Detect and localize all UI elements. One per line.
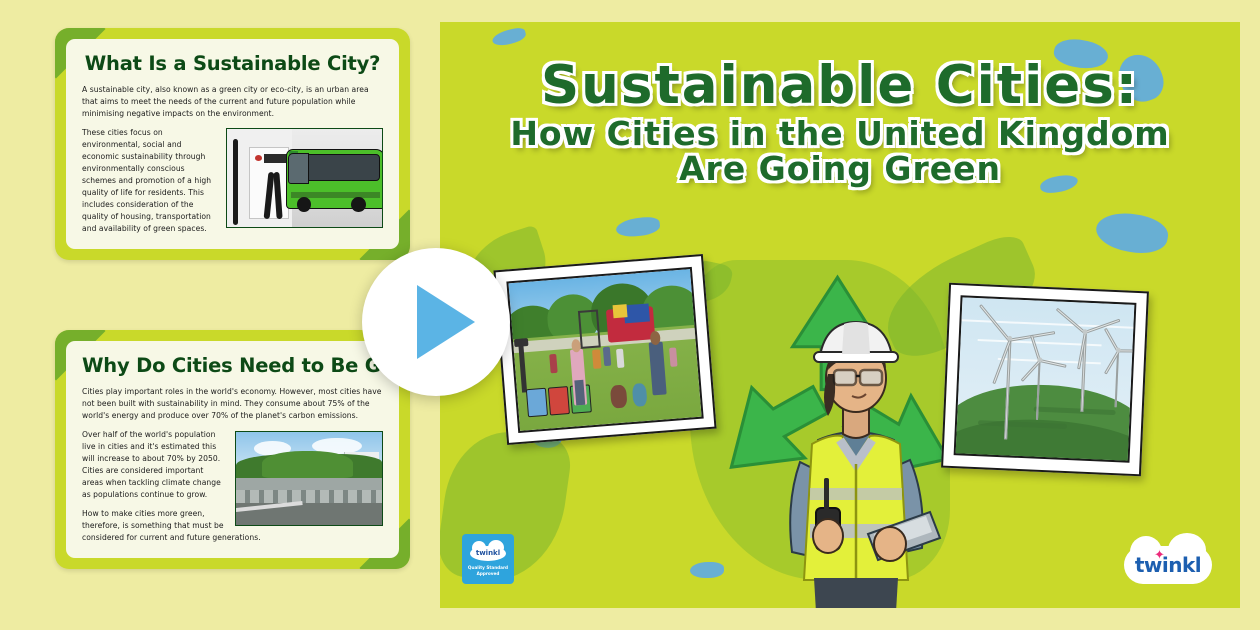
slide-preview-panel: Sustainable Cities: How Cities in the Un… xyxy=(440,22,1240,608)
quality-badge-line-1: Quality Standard xyxy=(468,565,508,571)
green-roof-photo xyxy=(235,431,383,526)
card-body: Cities play important roles in the world… xyxy=(82,386,383,544)
paint-splotch-icon xyxy=(1039,173,1079,194)
twinkl-logo: ✦ twinkl xyxy=(1124,542,1212,588)
twinkl-quality-standard-badge: twinkl Quality Standard Approved xyxy=(462,534,514,584)
card-title: Why Do Cities Need to Be Greener? xyxy=(82,354,383,377)
slide-title-sub-line-1: How Cities in the United Kingdom xyxy=(440,117,1240,151)
card-title: What Is a Sustainable City? xyxy=(82,52,383,75)
play-video-button[interactable] xyxy=(362,248,510,396)
polaroid-park-photo xyxy=(493,254,716,445)
polaroid-wind-turbines-photo xyxy=(941,283,1149,477)
paint-splotch-icon xyxy=(1113,48,1169,107)
twinkl-logo-word: twinkl xyxy=(1135,553,1201,577)
info-card-why-cities-need-greener: Why Do Cities Need to Be Greener? Cities… xyxy=(55,330,410,569)
quality-badge-line-2: Approved xyxy=(468,571,508,577)
quality-badge-word: twinkl xyxy=(476,549,500,557)
card-inner: What Is a Sustainable City? A sustainabl… xyxy=(66,39,399,249)
slide-title-sub-line-2: Are Going Green xyxy=(440,152,1240,186)
star-icon: ✦ xyxy=(1154,548,1165,561)
electric-bus-photo xyxy=(226,128,383,228)
card-body: A sustainable city, also known as a gree… xyxy=(82,84,383,235)
play-triangle-icon xyxy=(417,285,475,359)
paint-splotch-icon xyxy=(1093,208,1171,258)
card-inner: Why Do Cities Need to Be Greener? Cities… xyxy=(66,341,399,558)
card-paragraph: Cities play important roles in the world… xyxy=(82,386,383,422)
info-card-what-is-sustainable-city: What Is a Sustainable City? A sustainabl… xyxy=(55,28,410,260)
paint-splotch-icon xyxy=(1052,35,1111,74)
paint-splotch-icon xyxy=(690,562,724,578)
card-paragraph: A sustainable city, also known as a gree… xyxy=(82,84,383,120)
engineer-character-illustration xyxy=(740,312,970,608)
paint-splotch-icon xyxy=(491,26,527,48)
paint-splotch-icon xyxy=(615,216,661,239)
